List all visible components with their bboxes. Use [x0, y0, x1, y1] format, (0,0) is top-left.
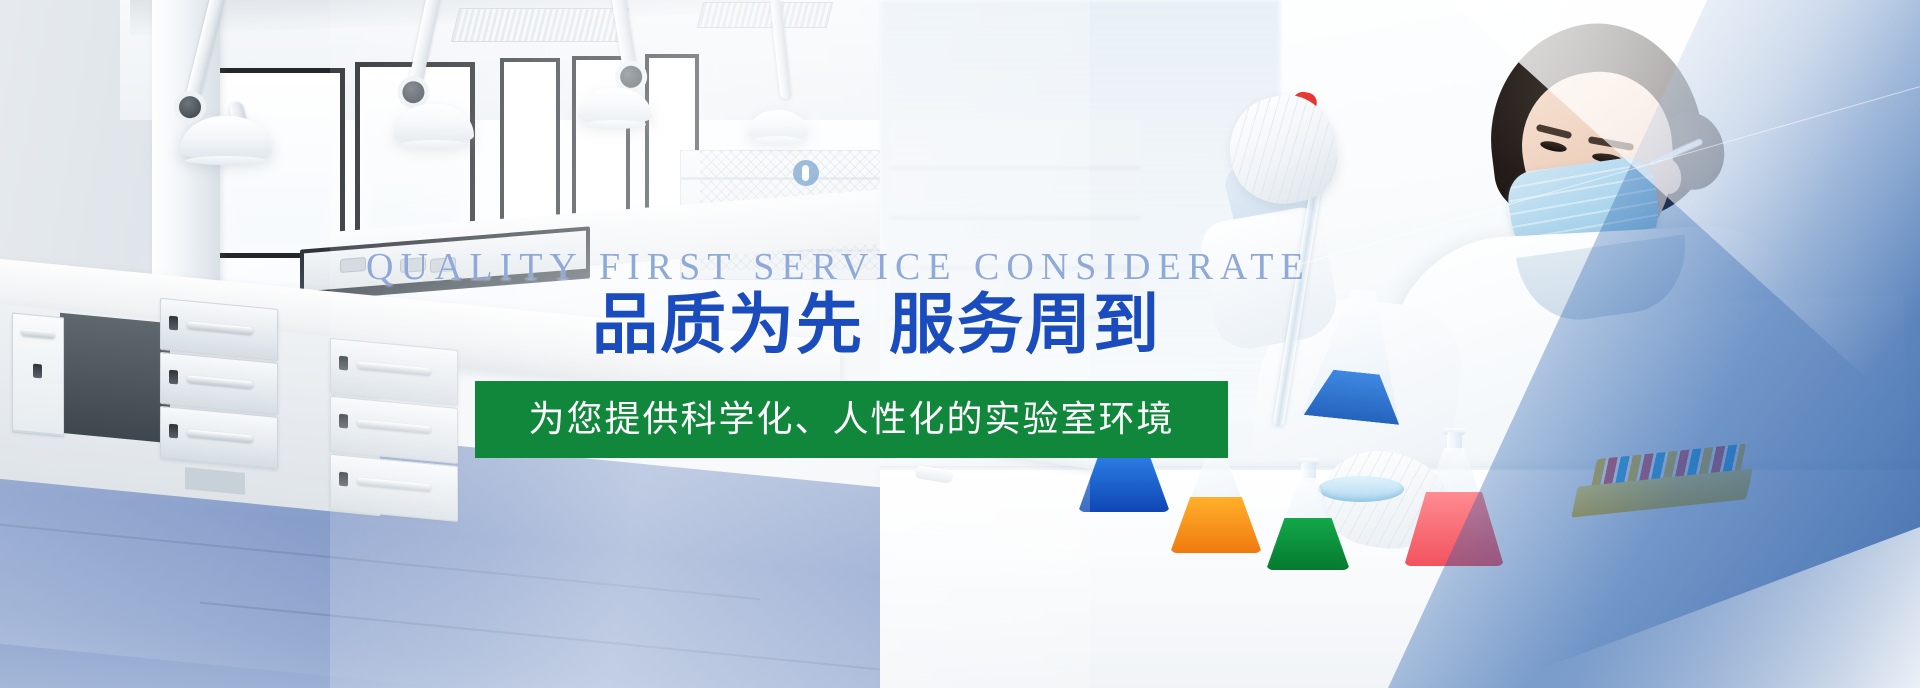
banner-eyebrow: QUALITY FIRST SERVICE CONSIDERATE	[366, 248, 1311, 286]
banner-copy: QUALITY FIRST SERVICE CONSIDERATE 品质为先 服…	[0, 0, 1920, 688]
banner-subbar-text: 为您提供科学化、人性化的实验室环境	[528, 402, 1174, 438]
hero-banner: QUALITY FIRST SERVICE CONSIDERATE 品质为先 服…	[0, 0, 1920, 688]
banner-headline: 品质为先 服务周到	[592, 292, 1161, 358]
banner-subbar: 为您提供科学化、人性化的实验室环境	[475, 381, 1228, 458]
